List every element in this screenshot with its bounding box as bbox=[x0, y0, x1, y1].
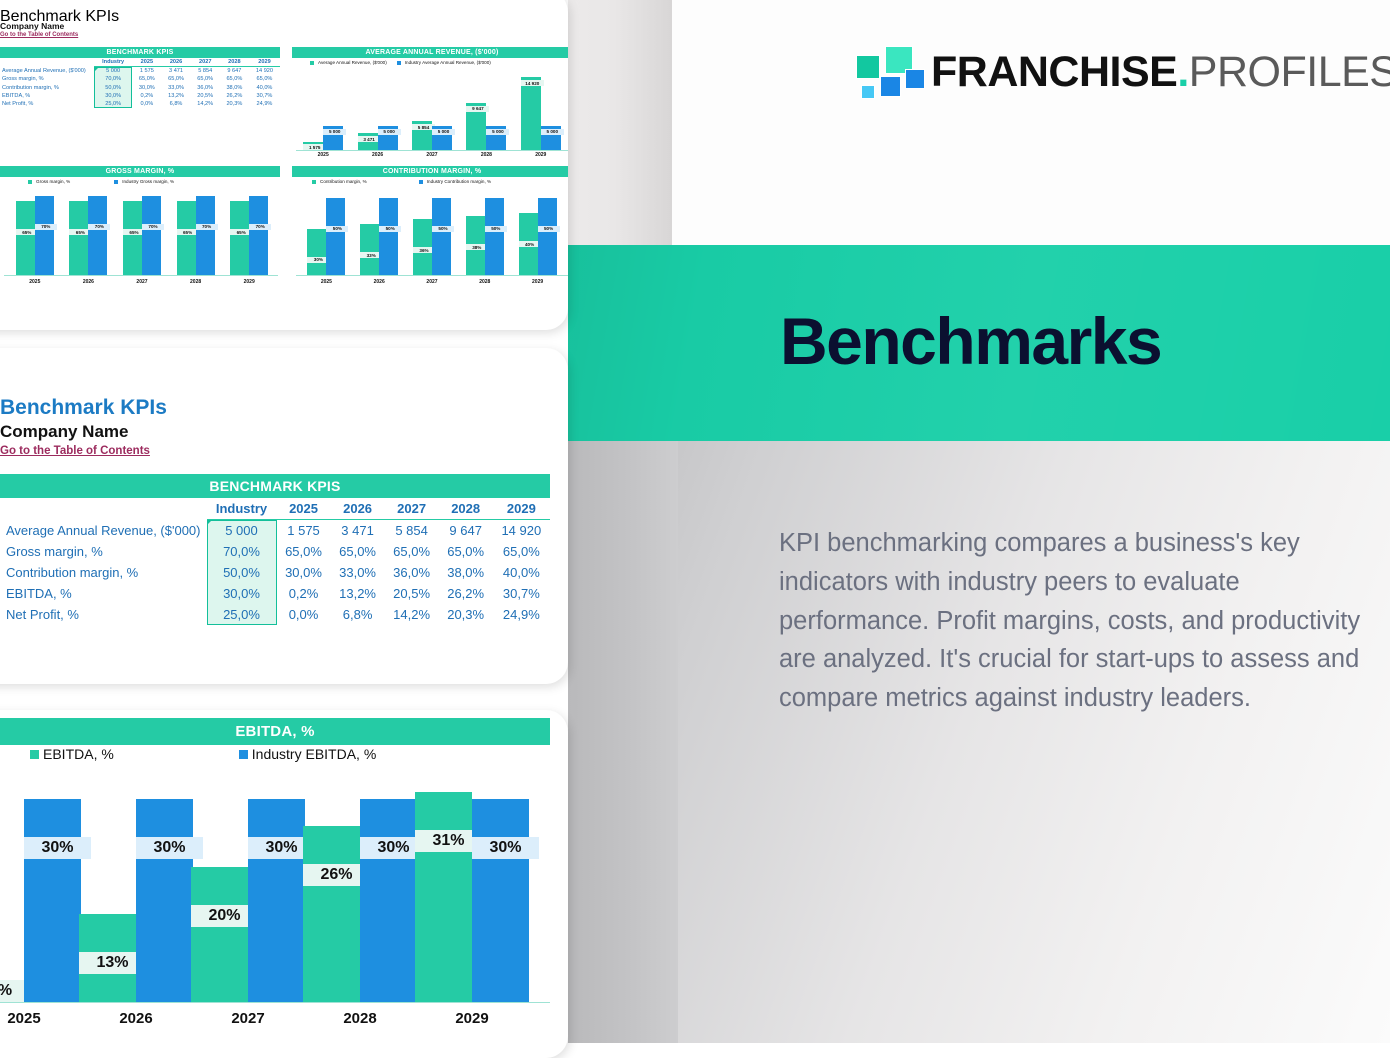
sheet-title-mid: Benchmark KPIs bbox=[0, 396, 167, 420]
bar-data-label: 5 000 bbox=[541, 129, 564, 135]
cell-industry: 70,0% bbox=[207, 541, 277, 562]
dashboard-card-table[interactable]: Benchmark KPIs Company Name Go to the Ta… bbox=[0, 348, 568, 684]
bar-data-label: 70% bbox=[142, 224, 164, 230]
bar-industry bbox=[24, 799, 81, 1002]
cell-value: 65,0% bbox=[385, 541, 439, 562]
legend-swatch-icon bbox=[114, 180, 118, 184]
bar-data-label: 30% bbox=[472, 837, 539, 859]
table-row: Gross margin, %70,0%65,0%65,0%65,0%65,0%… bbox=[0, 75, 280, 83]
legend-swatch-icon bbox=[28, 180, 32, 184]
bar-data-label: 5 000 bbox=[323, 129, 346, 135]
bar-industry bbox=[142, 196, 161, 275]
cell-value: 24,9% bbox=[249, 100, 280, 108]
dashboard-card-top[interactable]: Benchmark KPIs Company Name Go to the Ta… bbox=[0, 0, 568, 330]
bar-industry bbox=[360, 799, 417, 1002]
dashboard-card-ebitda[interactable]: EBITDA, % EBITDA, %Industry EBITDA, % 0%… bbox=[0, 710, 568, 1058]
row-label: EBITDA, % bbox=[0, 92, 94, 100]
legend-item: Industry EBITDA, % bbox=[239, 746, 376, 762]
row-label: Net Profit, % bbox=[0, 604, 207, 625]
cell-value: 36,0% bbox=[191, 84, 220, 92]
bar-data-label: 50% bbox=[379, 226, 401, 232]
bar-data-label: 50% bbox=[538, 226, 560, 232]
bar-data-label: 50% bbox=[432, 226, 454, 232]
x-axis-tick: 2028 bbox=[459, 152, 513, 158]
bar-data-label: 9 647 bbox=[466, 106, 489, 112]
cell-value: 9 647 bbox=[220, 67, 249, 76]
cell-industry: 30,0% bbox=[94, 92, 132, 100]
column-header: 2029 bbox=[249, 58, 280, 67]
row-label: Contribution margin, % bbox=[0, 84, 94, 92]
cell-value: 38,0% bbox=[220, 84, 249, 92]
row-label: Net Profit, % bbox=[0, 100, 94, 108]
bar-company bbox=[415, 792, 472, 1002]
kpi-panel-header-mid: BENCHMARK KPIS bbox=[0, 474, 550, 498]
bar-data-label: 14 920 bbox=[521, 80, 544, 86]
bar-data-label: 30% bbox=[24, 837, 91, 859]
chart-legend-contribution-margin-top: Contribution margin, %Industry Contribut… bbox=[312, 179, 491, 184]
logo-square-5 bbox=[861, 85, 875, 99]
cell-industry: 5 000 bbox=[94, 67, 132, 76]
cell-value: 38,0% bbox=[439, 562, 493, 583]
legend-label: Industry Gross margin, % bbox=[122, 179, 174, 184]
x-axis-tick: 2029 bbox=[514, 152, 568, 158]
legend-item: Average Annual Revenue, ($'000) bbox=[310, 60, 387, 65]
sheet-subtitle-mid: Company Name bbox=[0, 422, 128, 442]
x-axis-tick: 2029 bbox=[222, 279, 276, 285]
table-row: Contribution margin, %50,0%30,0%33,0%36,… bbox=[0, 84, 280, 92]
bar-company bbox=[303, 826, 360, 1002]
legend-item: Contribution margin, % bbox=[312, 179, 367, 184]
cell-value: 33,0% bbox=[331, 562, 385, 583]
bar-industry bbox=[248, 799, 305, 1002]
legend-item: Industry Average Annual Revenue, ($'000) bbox=[397, 60, 491, 65]
bar-data-label: 70% bbox=[196, 224, 218, 230]
column-header: 2027 bbox=[191, 58, 220, 67]
bar-industry bbox=[249, 196, 268, 275]
logo-square-1 bbox=[856, 55, 880, 79]
cell-value: 3 471 bbox=[331, 520, 385, 542]
bar-industry bbox=[379, 198, 398, 275]
cell-value: 20,5% bbox=[191, 92, 220, 100]
cell-value: 14 920 bbox=[493, 520, 550, 542]
x-axis-tick: 2027 bbox=[405, 152, 459, 158]
cell-value: 65,0% bbox=[331, 541, 385, 562]
chart-axis-gross-margin-top bbox=[4, 275, 278, 276]
cell-value: 33,0% bbox=[161, 84, 190, 92]
cell-value: 20,3% bbox=[220, 100, 249, 108]
row-label: Gross margin, % bbox=[0, 75, 94, 83]
column-header: Industry bbox=[94, 58, 132, 67]
cell-value: 65,0% bbox=[220, 75, 249, 83]
cell-value: 13,2% bbox=[161, 92, 190, 100]
cell-value: 6,8% bbox=[331, 604, 385, 625]
logo-word-franchise: FRANCHISE bbox=[931, 48, 1177, 96]
logo-wordmark: FRANCHISE.PROFILES bbox=[931, 51, 1390, 94]
cell-value: 65,0% bbox=[277, 541, 331, 562]
cell-industry: 70,0% bbox=[94, 75, 132, 83]
x-axis-tick: 2026 bbox=[353, 279, 406, 285]
bar-industry bbox=[472, 799, 529, 1002]
x-axis-tick: 2026 bbox=[80, 1010, 192, 1027]
x-axis-tick: 2027 bbox=[406, 279, 459, 285]
cell-value: 36,0% bbox=[385, 562, 439, 583]
legend-label: Industry EBITDA, % bbox=[252, 746, 376, 762]
legend-swatch-icon bbox=[419, 180, 423, 184]
logo-squares-icon bbox=[855, 45, 917, 100]
cell-industry: 30,0% bbox=[207, 583, 277, 604]
bar-industry bbox=[485, 198, 504, 275]
x-axis-tick: 2026 bbox=[350, 152, 404, 158]
chart-plot-gross-margin-top: 65%70%65%70%65%70%65%70%65%70% bbox=[8, 190, 276, 275]
cell-value: 30,7% bbox=[249, 92, 280, 100]
bar-industry bbox=[326, 198, 345, 275]
legend-swatch-icon bbox=[239, 750, 248, 759]
toc-link-top[interactable]: Go to the Table of Contents bbox=[0, 32, 78, 38]
table-row: Average Annual Revenue, ($'000)5 0001 57… bbox=[0, 67, 280, 76]
cell-value: 20,5% bbox=[385, 583, 439, 604]
column-header: 2025 bbox=[277, 498, 331, 520]
kpi-table-mid: Industry20252026202720282029Average Annu… bbox=[0, 498, 550, 625]
bar-data-label: 70% bbox=[35, 224, 57, 230]
legend-swatch-icon bbox=[397, 61, 401, 65]
bar-industry bbox=[35, 196, 54, 275]
bar-data-label: 50% bbox=[485, 226, 507, 232]
bar-company bbox=[521, 77, 541, 150]
chart-header-avg-revenue-top: AVERAGE ANNUAL REVENUE, ($'000) bbox=[292, 47, 568, 58]
bar-data-label: 70% bbox=[249, 224, 271, 230]
logo-square-4 bbox=[905, 69, 925, 89]
cell-value: 5 854 bbox=[385, 520, 439, 542]
bar-company bbox=[191, 867, 248, 1002]
chart-plot-ebitda: 0%30%13%30%20%30%26%30%31%30% bbox=[0, 772, 528, 1002]
cell-value: 65,0% bbox=[191, 75, 220, 83]
cell-value: 26,2% bbox=[220, 92, 249, 100]
toc-link-mid[interactable]: Go to the Table of Contents bbox=[0, 445, 150, 457]
chart-header-ebitda: EBITDA, % bbox=[0, 718, 550, 745]
cell-industry: 5 000 bbox=[207, 520, 277, 542]
table-row: Average Annual Revenue, ($'000)5 0001 57… bbox=[0, 520, 550, 542]
table-row: Gross margin, %70,0%65,0%65,0%65,0%65,0%… bbox=[0, 541, 550, 562]
x-axis-tick: 2028 bbox=[304, 1010, 416, 1027]
row-label: EBITDA, % bbox=[0, 583, 207, 604]
bar-data-label: 70% bbox=[88, 224, 110, 230]
column-header: 2028 bbox=[439, 498, 493, 520]
x-axis-tick: 2029 bbox=[511, 279, 564, 285]
legend-label: EBITDA, % bbox=[43, 746, 114, 762]
table-row: Net Profit, %25,0%0,0%6,8%14,2%20,3%24,9… bbox=[0, 604, 550, 625]
row-label: Average Annual Revenue, ($'000) bbox=[0, 67, 94, 76]
cell-value: 30,7% bbox=[493, 583, 550, 604]
x-axis-tick: 2028 bbox=[169, 279, 223, 285]
cell-value: 30,0% bbox=[132, 84, 161, 92]
x-axis-tick: 2025 bbox=[296, 152, 350, 158]
bar-data-label: 5 000 bbox=[432, 129, 455, 135]
legend-label: Average Annual Revenue, ($'000) bbox=[318, 60, 387, 65]
cell-industry: 25,0% bbox=[94, 100, 132, 108]
bar-company bbox=[360, 224, 379, 275]
legend-swatch-icon bbox=[312, 180, 316, 184]
chart-legend-avg-revenue-top: Average Annual Revenue, ($'000)Industry … bbox=[310, 60, 491, 65]
legend-item: Industry Contribution margin, % bbox=[419, 179, 491, 184]
chart-axis-avg-revenue-top bbox=[296, 150, 568, 151]
column-header: Industry bbox=[207, 498, 277, 520]
column-header bbox=[0, 498, 207, 520]
column-header bbox=[0, 58, 94, 67]
bar-industry bbox=[196, 196, 215, 275]
cell-industry: 50,0% bbox=[207, 562, 277, 583]
chart-plot-contribution-margin-top: 30%50%33%50%36%50%38%50%40%50% bbox=[300, 190, 564, 275]
bar-data-label: 5 000 bbox=[378, 129, 401, 135]
table-row: EBITDA, %30,0%0,2%13,2%20,5%26,2%30,7% bbox=[0, 92, 280, 100]
column-header: 2026 bbox=[161, 58, 190, 67]
legend-label: Industry Contribution margin, % bbox=[427, 179, 491, 184]
legend-label: Contribution margin, % bbox=[320, 179, 367, 184]
cell-value: 30,0% bbox=[277, 562, 331, 583]
cell-value: 65,0% bbox=[493, 541, 550, 562]
table-header-row: Industry20252026202720282029 bbox=[0, 58, 280, 67]
chart-axis-ebitda bbox=[0, 1002, 550, 1003]
legend-swatch-icon bbox=[30, 750, 39, 759]
x-axis-tick: 2027 bbox=[192, 1010, 304, 1027]
table-header-row: Industry20252026202720282029 bbox=[0, 498, 550, 520]
logo-square-3 bbox=[880, 76, 901, 97]
cell-industry: 50,0% bbox=[94, 84, 132, 92]
cell-value: 5 854 bbox=[191, 67, 220, 76]
bar-data-label: 30% bbox=[136, 837, 203, 859]
bar-industry bbox=[136, 799, 193, 1002]
sheet-subtitle-top: Company Name bbox=[0, 21, 64, 31]
x-axis-tick: 2029 bbox=[416, 1010, 528, 1027]
x-axis-tick: 2028 bbox=[458, 279, 511, 285]
row-label: Contribution margin, % bbox=[0, 562, 207, 583]
chart-legend-ebitda: EBITDA, %Industry EBITDA, % bbox=[30, 746, 376, 762]
cell-value: 40,0% bbox=[493, 562, 550, 583]
table-row: Net Profit, %25,0%0,0%6,8%14,2%20,3%24,9… bbox=[0, 100, 280, 108]
bar-company bbox=[230, 201, 249, 275]
legend-label: Industry Average Annual Revenue, ($'000) bbox=[405, 60, 491, 65]
cell-value: 20,3% bbox=[439, 604, 493, 625]
x-axis-tick: 2027 bbox=[115, 279, 169, 285]
gray-lower-edge bbox=[568, 440, 678, 1043]
franchise-profiles-logo: FRANCHISE.PROFILES bbox=[855, 45, 1390, 100]
cell-value: 14,2% bbox=[191, 100, 220, 108]
bar-company bbox=[177, 201, 196, 275]
column-header: 2026 bbox=[331, 498, 385, 520]
bar-industry bbox=[88, 196, 107, 275]
column-header: 2028 bbox=[220, 58, 249, 67]
bar-company bbox=[16, 201, 35, 275]
column-header: 2029 bbox=[493, 498, 550, 520]
cell-value: 9 647 bbox=[439, 520, 493, 542]
column-header: 2027 bbox=[385, 498, 439, 520]
logo-word-profiles: PROFILES bbox=[1189, 48, 1390, 96]
x-axis-tick: 2026 bbox=[62, 279, 116, 285]
cell-value: 65,0% bbox=[132, 75, 161, 83]
table-row: EBITDA, %30,0%0,2%13,2%20,5%26,2%30,7% bbox=[0, 583, 550, 604]
cell-value: 0,2% bbox=[132, 92, 161, 100]
bar-data-label: 5 000 bbox=[486, 129, 509, 135]
legend-item: Gross margin, % bbox=[28, 179, 70, 184]
page-description: KPI benchmarking compares a business's k… bbox=[779, 524, 1364, 718]
chart-axis-contribution-margin-top bbox=[296, 275, 568, 276]
cell-value: 14 920 bbox=[249, 67, 280, 76]
column-header: 2025 bbox=[132, 58, 161, 67]
table-row: Contribution margin, %50,0%30,0%33,0%36,… bbox=[0, 562, 550, 583]
legend-swatch-icon bbox=[310, 61, 314, 65]
cell-value: 0,0% bbox=[132, 100, 161, 108]
cell-value: 13,2% bbox=[331, 583, 385, 604]
chart-header-gross-margin-top: GROSS MARGIN, % bbox=[0, 166, 280, 177]
x-axis-tick: 2025 bbox=[300, 279, 353, 285]
cell-value: 0,0% bbox=[277, 604, 331, 625]
cell-value: 0,2% bbox=[277, 583, 331, 604]
cell-value: 65,0% bbox=[439, 541, 493, 562]
kpi-panel-header-top: BENCHMARK KPIS bbox=[0, 47, 280, 58]
cell-value: 26,2% bbox=[439, 583, 493, 604]
cell-value: 65,0% bbox=[249, 75, 280, 83]
page-title: Benchmarks bbox=[780, 308, 1161, 374]
cell-value: 65,0% bbox=[161, 75, 190, 83]
x-axis-tick: 2025 bbox=[8, 279, 62, 285]
row-label: Average Annual Revenue, ($'000) bbox=[0, 520, 207, 542]
cell-value: 6,8% bbox=[161, 100, 190, 108]
chart-legend-gross-margin-top: Gross margin, %Industry Gross margin, % bbox=[28, 179, 174, 184]
cell-value: 1 575 bbox=[132, 67, 161, 76]
cell-value: 24,9% bbox=[493, 604, 550, 625]
cell-value: 14,2% bbox=[385, 604, 439, 625]
logo-dot: . bbox=[1177, 48, 1188, 96]
bar-company bbox=[307, 229, 326, 275]
cell-value: 3 471 bbox=[161, 67, 190, 76]
legend-item: EBITDA, % bbox=[30, 746, 114, 762]
kpi-table-top: Industry20252026202720282029Average Annu… bbox=[0, 58, 280, 108]
chart-header-contribution-margin-top: CONTRIBUTION MARGIN, % bbox=[292, 166, 568, 177]
x-axis-tick: 2025 bbox=[0, 1010, 80, 1027]
bar-industry bbox=[538, 198, 557, 275]
bar-company bbox=[123, 201, 142, 275]
bar-industry bbox=[432, 198, 451, 275]
bar-data-label: 50% bbox=[326, 226, 348, 232]
cell-value: 40,0% bbox=[249, 84, 280, 92]
cell-value: 1 575 bbox=[277, 520, 331, 542]
row-label: Gross margin, % bbox=[0, 541, 207, 562]
cell-industry: 25,0% bbox=[207, 604, 277, 625]
chart-plot-avg-revenue-top: 1 5755 0003 4715 0005 8545 0009 6475 000… bbox=[296, 72, 568, 150]
bar-company bbox=[69, 201, 88, 275]
legend-label: Gross margin, % bbox=[36, 179, 70, 184]
legend-item: Industry Gross margin, % bbox=[114, 179, 174, 184]
